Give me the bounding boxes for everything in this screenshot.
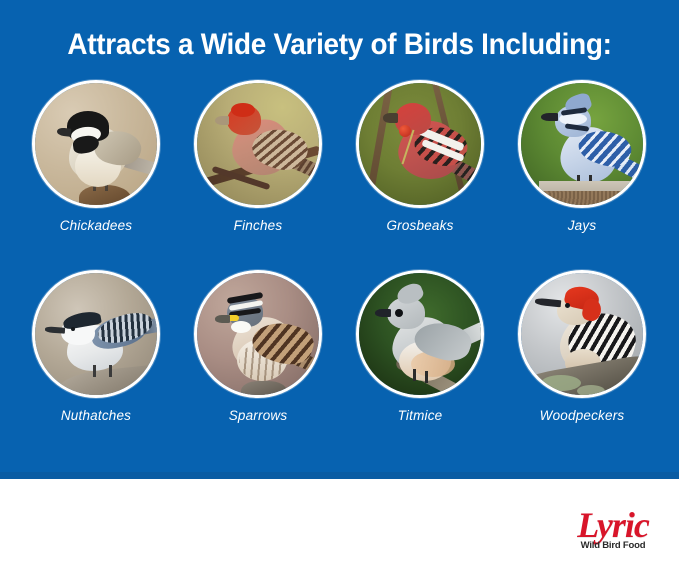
product-image-panel: Attracts a Wide Variety of Birds Includi…: [0, 0, 679, 566]
bird-label: Finches: [178, 218, 338, 233]
bird-cell-sparrows: Sparrows: [178, 270, 338, 423]
panel-bottom-strip: [0, 472, 679, 479]
woodpecker-photo: [518, 270, 646, 398]
bird-label: Sparrows: [178, 408, 338, 423]
bird-cell-finches: Finches: [178, 80, 338, 233]
bird-label: Jays: [502, 218, 662, 233]
page-title: Attracts a Wide Variety of Birds Includi…: [24, 28, 655, 62]
chickadee-photo: [32, 80, 160, 208]
bird-cell-titmice: Titmice: [340, 270, 500, 423]
brand-name: Lyric: [565, 508, 661, 542]
bird-cell-chickadees: Chickadees: [16, 80, 176, 233]
bird-cell-woodpeckers: Woodpeckers: [502, 270, 662, 423]
bird-cell-grosbeaks: Grosbeaks: [340, 80, 500, 233]
bird-label: Chickadees: [16, 218, 176, 233]
bird-label: Nuthatches: [16, 408, 176, 423]
titmouse-photo: [356, 270, 484, 398]
bird-cell-nuthatches: Nuthatches: [16, 270, 176, 423]
nuthatch-photo: [32, 270, 160, 398]
grosbeak-photo: [356, 80, 484, 208]
bird-row-1: Chickadees Finches: [0, 80, 679, 270]
finch-photo: [194, 80, 322, 208]
bird-grid: Chickadees Finches: [0, 80, 679, 460]
jay-photo: [518, 80, 646, 208]
bird-row-2: Nuthatches: [0, 270, 679, 460]
bird-label: Woodpeckers: [502, 408, 662, 423]
bird-label: Grosbeaks: [340, 218, 500, 233]
sparrow-photo: [194, 270, 322, 398]
brand-logo: Lyric Wild Bird Food: [565, 508, 661, 554]
bird-cell-jays: Jays: [502, 80, 662, 233]
bird-label: Titmice: [340, 408, 500, 423]
